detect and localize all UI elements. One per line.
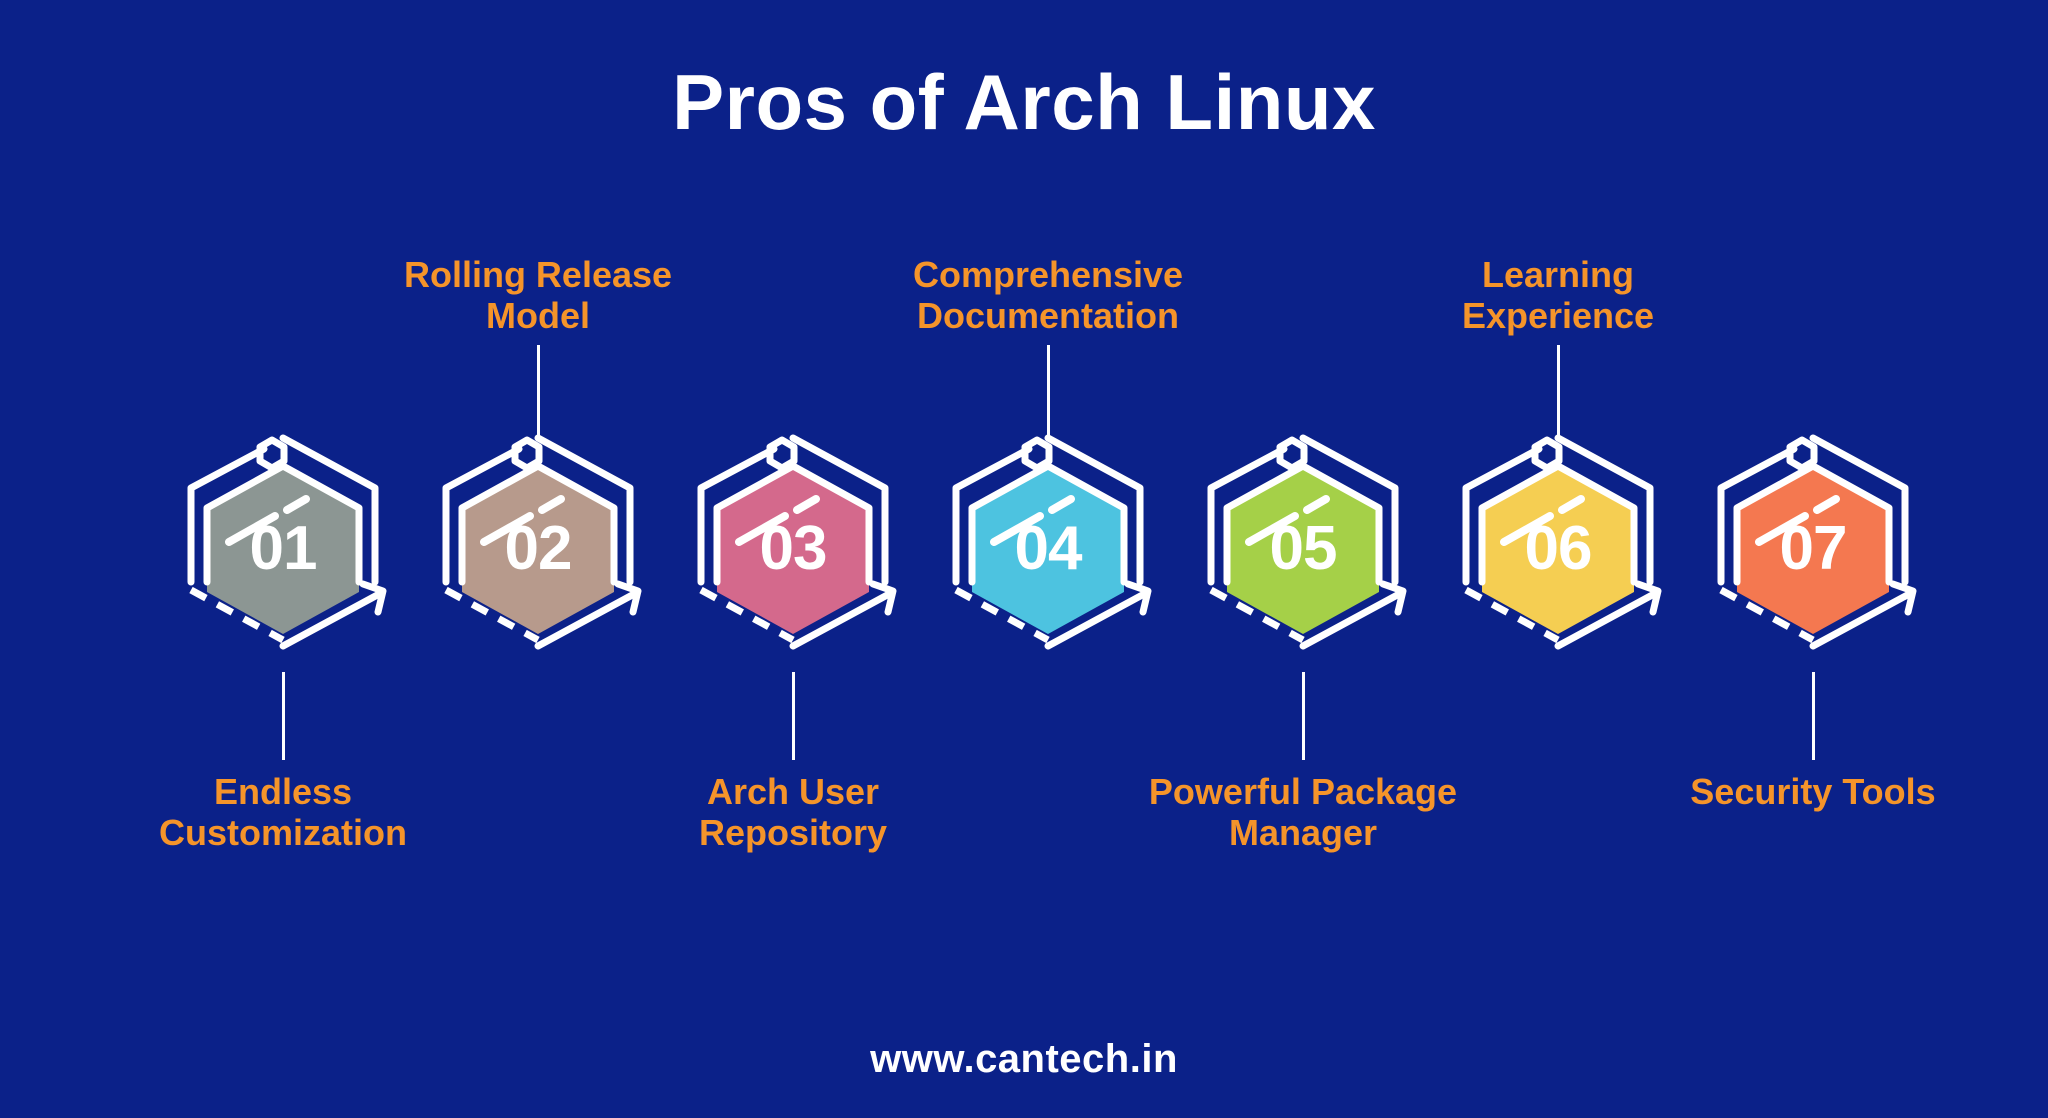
infographic-canvas: Pros of Arch Linux 01EndlessCustomizatio… [0, 0, 2048, 1118]
badge-06[interactable]: 06 [1442, 432, 1674, 664]
caption-line-2: Repository [613, 813, 973, 854]
connector-line [282, 672, 285, 760]
caption-line-1: Arch User [613, 772, 973, 813]
badge-graphic [422, 432, 654, 664]
badge-graphic [167, 432, 399, 664]
badge-graphic [932, 432, 1164, 664]
caption-line-2: Experience [1378, 296, 1738, 337]
caption-line-1: Learning [1378, 255, 1738, 296]
badge-graphic [1442, 432, 1674, 664]
badge-caption-01: EndlessCustomization [103, 772, 463, 853]
caption-line-1: Powerful Package [1123, 772, 1483, 813]
badge-05[interactable]: 05 [1187, 432, 1419, 664]
badge-caption-05: Powerful PackageManager [1123, 772, 1483, 853]
badge-graphic [1697, 432, 1929, 664]
badge-caption-02: Rolling ReleaseModel [358, 255, 718, 336]
badge-01[interactable]: 01 [167, 432, 399, 664]
caption-line-2: Manager [1123, 813, 1483, 854]
badge-caption-04: ComprehensiveDocumentation [868, 255, 1228, 336]
connector-line [1047, 345, 1050, 435]
caption-line-1: Rolling Release [358, 255, 718, 296]
badge-row: 01EndlessCustomization02Rolling ReleaseM… [0, 0, 2048, 1118]
badge-caption-06: LearningExperience [1378, 255, 1738, 336]
connector-line [537, 345, 540, 435]
caption-line-2: Customization [103, 813, 463, 854]
badge-graphic [1187, 432, 1419, 664]
caption-line-2: Documentation [868, 296, 1228, 337]
connector-line [1812, 672, 1815, 760]
badge-04[interactable]: 04 [932, 432, 1164, 664]
badge-07[interactable]: 07 [1697, 432, 1929, 664]
caption-line-1: Endless [103, 772, 463, 813]
caption-line-1: Comprehensive [868, 255, 1228, 296]
connector-line [1302, 672, 1305, 760]
badge-03[interactable]: 03 [677, 432, 909, 664]
badge-02[interactable]: 02 [422, 432, 654, 664]
caption-line-2: Model [358, 296, 718, 337]
badge-caption-03: Arch UserRepository [613, 772, 973, 853]
badge-graphic [677, 432, 909, 664]
caption-line-1: Security Tools [1633, 772, 1993, 813]
connector-line [792, 672, 795, 760]
badge-caption-07: Security Tools [1633, 772, 1993, 813]
connector-line [1557, 345, 1560, 435]
footer-url: www.cantech.in [0, 1037, 2048, 1082]
